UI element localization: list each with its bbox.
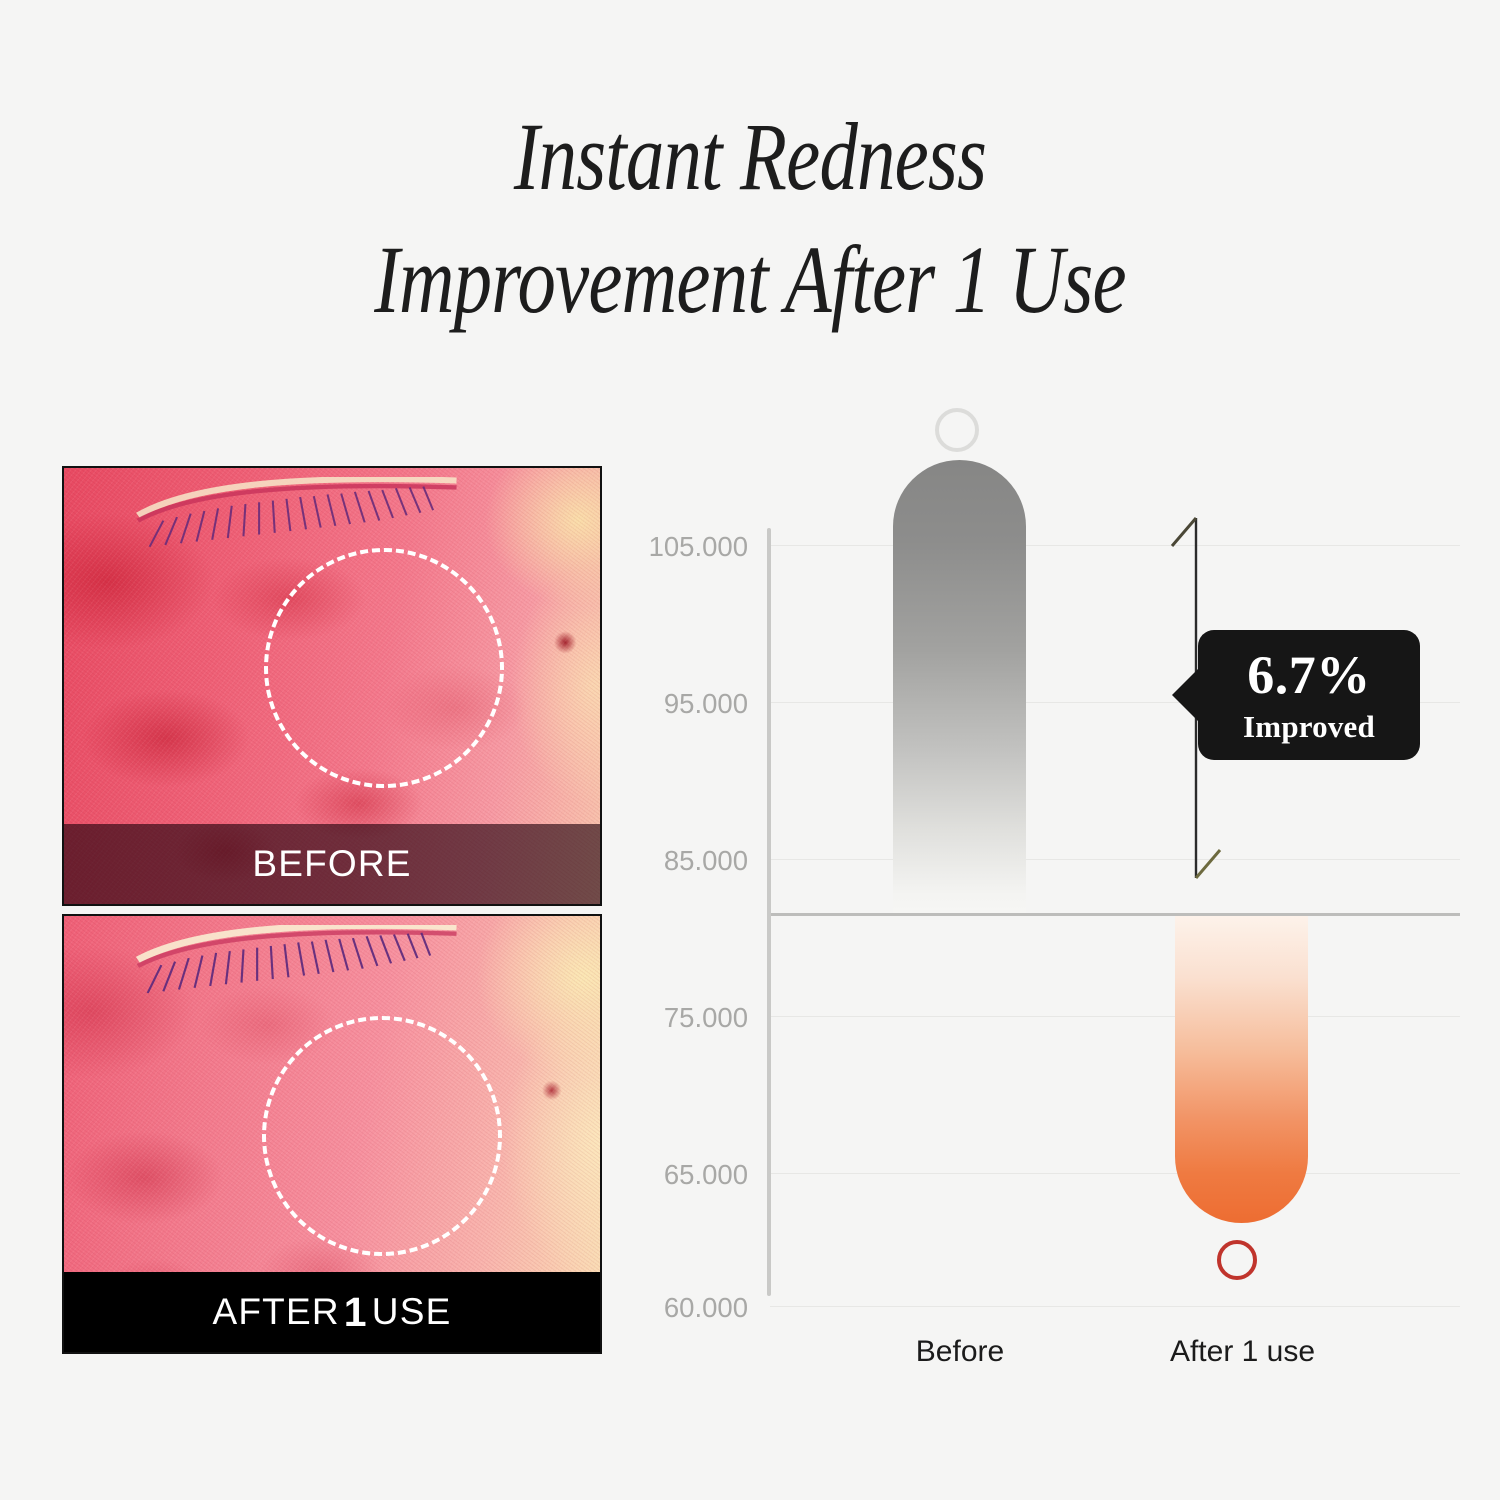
gridline-75 <box>770 1016 1460 1017</box>
bar-after-1-use <box>1175 916 1308 1223</box>
title-line-2: Improvement After 1 Use <box>150 219 1350 342</box>
photo-comparison: BEFORE <box>62 466 602 1354</box>
badge-pointer-icon <box>1172 668 1199 722</box>
y-tick-label-75: 75.000 <box>638 1002 748 1034</box>
after-photo: AFTER 1 USE <box>62 914 602 1354</box>
improvement-badge: 6.7% Improved <box>1198 630 1420 760</box>
badge-label: Improved <box>1243 711 1375 742</box>
marker-after-circle-icon <box>1217 1240 1257 1280</box>
eyelash-region-before <box>134 477 466 564</box>
y-tick-label-65: 65.000 <box>638 1159 748 1191</box>
gridline-105 <box>770 545 1460 546</box>
before-caption: BEFORE <box>64 824 600 904</box>
baseline-separator <box>767 913 1460 916</box>
y-tick-label-105: 105.000 <box>638 531 748 563</box>
before-caption-text: BEFORE <box>252 843 411 885</box>
after-caption: AFTER 1 USE <box>64 1272 600 1352</box>
measurement-circle-after <box>262 1016 502 1256</box>
marker-before-circle-icon <box>935 408 979 452</box>
gridline-60 <box>770 1306 1460 1307</box>
redness-bar-chart: 105.000 95.000 85.000 75.000 65.000 60.0… <box>630 440 1460 1360</box>
measurement-circle-before <box>264 548 504 788</box>
page-title: Instant Redness Improvement After 1 Use <box>150 96 1350 342</box>
gridline-65 <box>770 1173 1460 1174</box>
x-label-before: Before <box>880 1335 1040 1369</box>
gridline-85 <box>770 859 1460 860</box>
bar-before <box>893 460 1026 913</box>
eyelash-region-after <box>134 925 466 1012</box>
x-label-after-1-use: After 1 use <box>1140 1335 1345 1369</box>
y-tick-label-95: 95.000 <box>638 688 748 720</box>
y-axis-line <box>767 528 771 1296</box>
after-caption-count: 1 <box>340 1289 372 1336</box>
before-photo: BEFORE <box>62 466 602 906</box>
badge-percent: 6.7% <box>1247 648 1371 702</box>
after-caption-suffix: USE <box>372 1291 452 1333</box>
y-tick-label-60: 60.000 <box>638 1292 748 1324</box>
after-caption-prefix: AFTER <box>213 1291 340 1333</box>
y-tick-label-85: 85.000 <box>638 845 748 877</box>
title-line-1: Instant Redness <box>150 96 1350 219</box>
poster-root: Instant Redness Improvement After 1 Use <box>0 0 1500 1500</box>
